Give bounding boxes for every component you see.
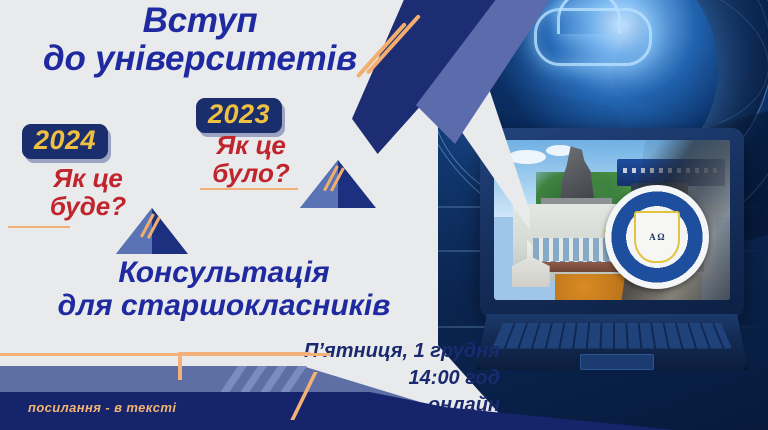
event-date: П’ятниця, 1 грудня: [304, 340, 500, 363]
orange-underline: [8, 226, 70, 228]
question-2023: Як це було?: [186, 132, 316, 188]
cloud-icon: [534, 8, 652, 66]
orange-underline: [200, 188, 298, 190]
question-2024: Як це буде?: [18, 165, 158, 221]
admission-consultation-banner: 1 0 1 0 1 1 0 0 1 0 1 0 0 1 1 0 0 1 1 0 …: [0, 0, 768, 430]
event-time: 14:00 год: [409, 367, 500, 390]
cloud-icon: [508, 150, 546, 164]
laptop-lid: A Ω: [480, 128, 744, 318]
title-line-1: Вступ: [143, 1, 258, 40]
year-badge-2024: 2024: [22, 124, 108, 159]
year-badge-2023: 2023: [196, 98, 282, 133]
emblem-shield: A Ω: [634, 211, 680, 263]
emblem-letters: A Ω: [649, 232, 664, 242]
question-2024-line-2: буде?: [50, 191, 126, 221]
laptop-trackpad: [580, 354, 654, 370]
university-emblem-icon: A Ω: [605, 185, 709, 289]
title-line-2: до університетів: [0, 40, 400, 78]
consultation-line-1: Консультація: [118, 256, 329, 289]
page-title: Вступ до університетів: [0, 2, 400, 78]
laptop-icon: A Ω: [476, 128, 748, 358]
orange-step-line: [178, 352, 310, 380]
consultation-line-2: для старшокласників: [14, 289, 434, 322]
question-2024-line-1: Як це: [53, 163, 123, 193]
laptop-keyboard: [492, 323, 732, 349]
question-2023-line-2: було?: [212, 158, 290, 188]
link-note: посилання - в тексті: [28, 400, 176, 415]
consultation-heading: Консультація для старшокласників: [14, 256, 434, 322]
question-2023-line-1: Як це: [216, 130, 286, 160]
